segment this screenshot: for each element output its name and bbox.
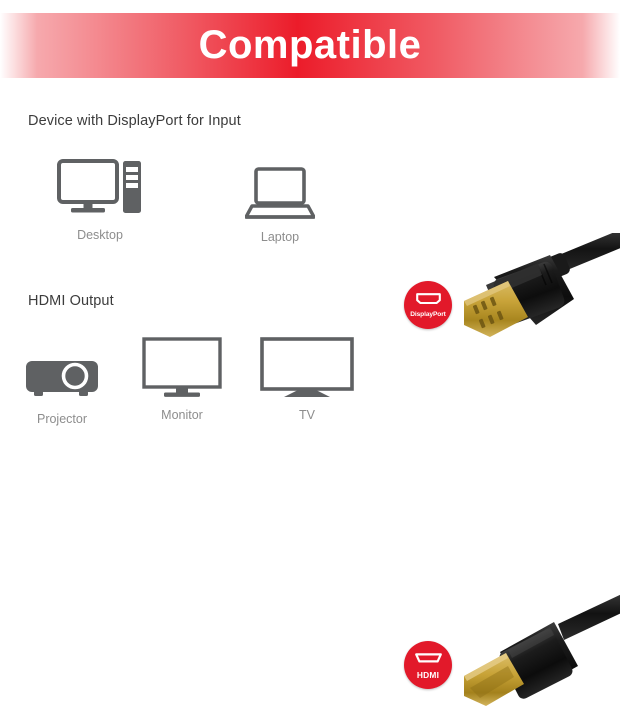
device-item-projector: Projector <box>2 337 122 426</box>
laptop-icon <box>220 155 340 221</box>
hdmi-cable-photo <box>450 590 620 723</box>
device-label-desktop: Desktop <box>40 228 160 242</box>
section-displayport-input: Device with DisplayPort for Input <box>0 105 620 270</box>
badge-hdmi: HDMI <box>404 641 452 689</box>
device-item-desktop: Desktop <box>40 153 160 242</box>
device-label-projector: Projector <box>2 412 122 426</box>
page-title: Compatible <box>199 25 422 65</box>
device-item-monitor: Monitor <box>122 333 242 422</box>
device-label-tv: TV <box>247 408 367 422</box>
device-item-laptop: Laptop <box>220 155 340 244</box>
section-title-displayport: Device with DisplayPort for Input <box>28 113 241 129</box>
header-banner: Compatible <box>0 13 620 78</box>
device-list-displayport: Desktop Laptop <box>0 153 400 263</box>
projector-icon <box>2 337 122 403</box>
device-label-monitor: Monitor <box>122 408 242 422</box>
device-list-hdmi: Projector Monitor TV <box>0 333 400 443</box>
section-title-hdmi: HDMI Output <box>28 293 114 309</box>
hdmi-connector-icon <box>414 651 443 669</box>
section-hdmi-output: HDMI Output Projector <box>0 285 620 445</box>
badge-label-hdmi: HDMI <box>417 671 439 679</box>
television-icon <box>247 333 367 399</box>
device-label-laptop: Laptop <box>220 230 340 244</box>
device-item-tv: TV <box>247 333 367 422</box>
desktop-computer-icon <box>40 153 160 219</box>
monitor-icon <box>122 333 242 399</box>
